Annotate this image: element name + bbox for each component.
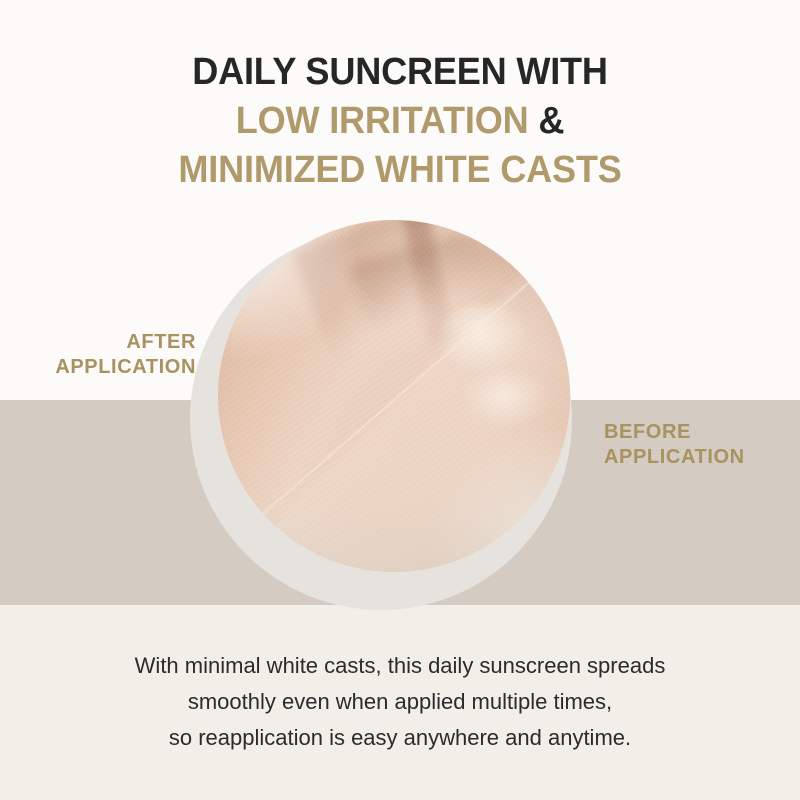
- wrist-fade-overlay: [218, 456, 570, 572]
- body-copy-line-3: so reapplication is easy anywhere and an…: [0, 720, 800, 756]
- body-copy-line-2: smoothly even when applied multiple time…: [0, 684, 800, 720]
- headline-line-1: DAILY SUNCREEN WITH: [20, 48, 780, 97]
- body-copy-line-1: With minimal white casts, this daily sun…: [0, 648, 800, 684]
- after-application-label-line-2: APPLICATION: [0, 355, 196, 380]
- comparison-photo: [190, 220, 590, 620]
- before-application-label: BEFORE APPLICATION: [604, 420, 800, 470]
- before-application-label-line-1: BEFORE: [604, 420, 800, 445]
- headline-line-2-text: LOW IRRITATION: [236, 100, 529, 142]
- after-application-label: AFTER APPLICATION: [0, 330, 196, 380]
- circle-highlight-top-left: [218, 220, 378, 380]
- before-application-label-line-2: APPLICATION: [604, 445, 800, 470]
- headline-line-3: MINIMIZED WHITE CASTS: [20, 146, 780, 195]
- body-copy-block: With minimal white casts, this daily sun…: [0, 648, 800, 756]
- after-application-label-line-1: AFTER: [0, 330, 196, 355]
- hand-photo-circle: [218, 220, 570, 572]
- headline-block: DAILY SUNCREEN WITH LOW IRRITATION & MIN…: [0, 48, 800, 195]
- product-claim-poster: DAILY SUNCREEN WITH LOW IRRITATION & MIN…: [0, 0, 800, 800]
- headline-ampersand: &: [538, 100, 564, 142]
- headline-line-2: LOW IRRITATION &: [20, 97, 780, 146]
